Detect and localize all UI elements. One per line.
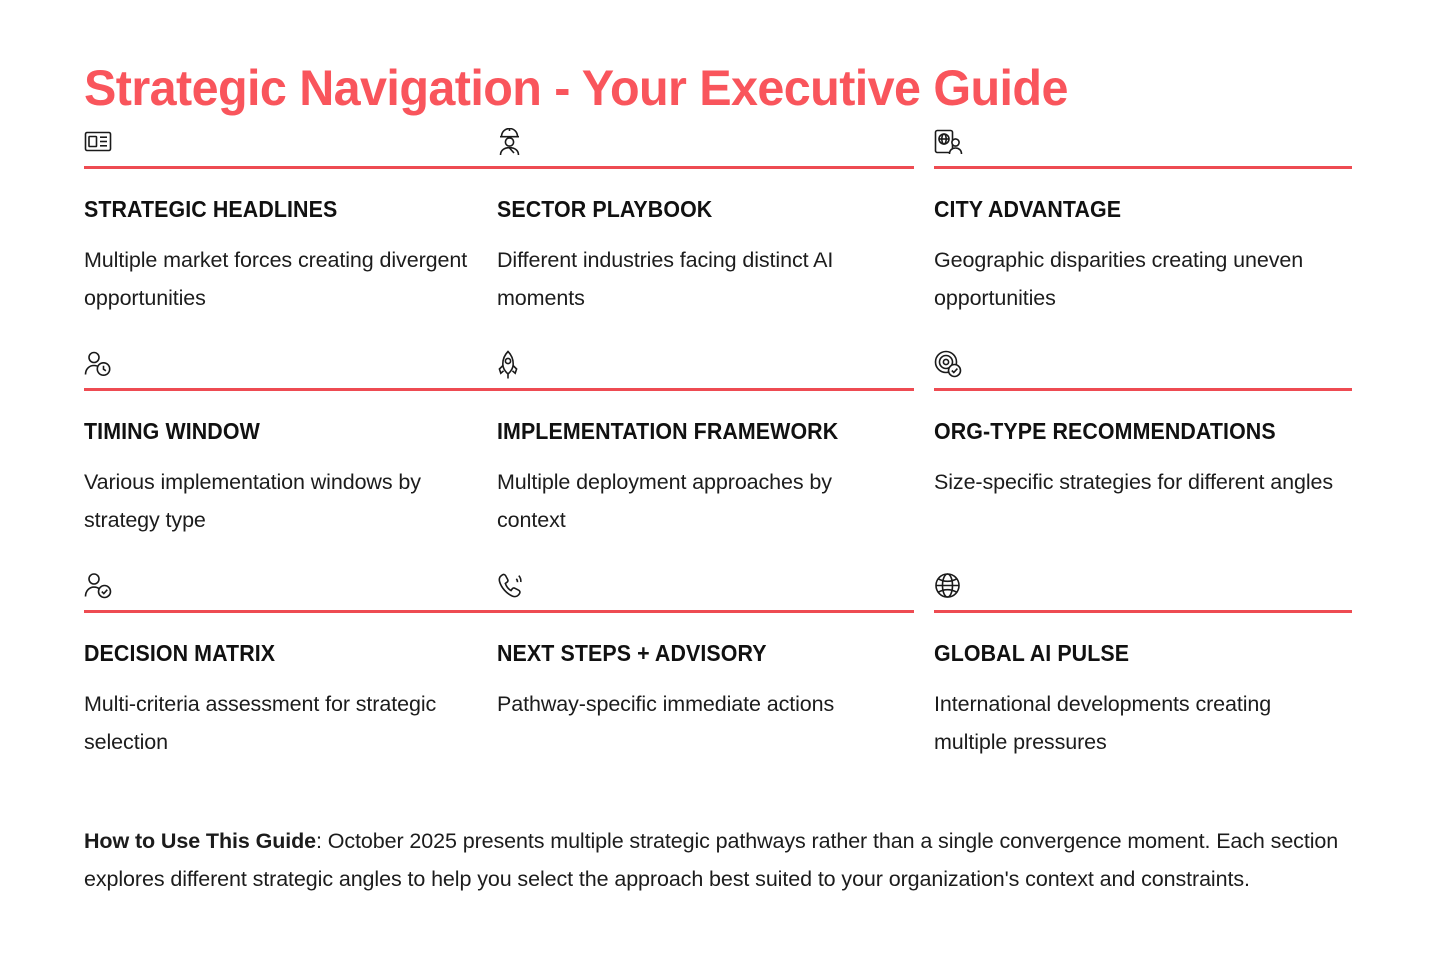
card-divider bbox=[84, 166, 497, 169]
card-divider bbox=[84, 610, 497, 613]
person-check-icon bbox=[84, 572, 473, 606]
card-divider bbox=[497, 388, 914, 391]
card-timing-window[interactable]: TIMING WINDOW Various implementation win… bbox=[84, 350, 497, 572]
card-heading: GLOBAL AI PULSE bbox=[934, 640, 1323, 667]
card-global-ai-pulse[interactable]: GLOBAL AI PULSE International developmen… bbox=[934, 572, 1376, 794]
card-implementation-framework[interactable]: IMPLEMENTATION FRAMEWORK Multiple deploy… bbox=[497, 350, 934, 572]
card-description: Size-specific strategies for different a… bbox=[934, 463, 1334, 501]
card-description: International developments creating mult… bbox=[934, 685, 1334, 761]
card-description: Multiple market forces creating divergen… bbox=[84, 241, 473, 317]
card-description: Pathway-specific immediate actions bbox=[497, 685, 897, 723]
card-divider bbox=[934, 388, 1352, 391]
card-sector-playbook[interactable]: SECTOR PLAYBOOK Different industries fac… bbox=[497, 128, 934, 350]
card-next-steps-advisory[interactable]: NEXT STEPS + ADVISORY Pathway-specific i… bbox=[497, 572, 934, 794]
target-check-icon bbox=[934, 350, 1352, 384]
card-divider bbox=[497, 166, 914, 169]
phone-ringing-icon bbox=[497, 572, 910, 606]
rocket-icon bbox=[497, 350, 910, 384]
card-divider bbox=[934, 610, 1352, 613]
card-heading: CITY ADVANTAGE bbox=[934, 196, 1323, 223]
how-to-use-footnote: How to Use This Guide: October 2025 pres… bbox=[84, 822, 1379, 898]
card-heading: NEXT STEPS + ADVISORY bbox=[497, 640, 881, 667]
card-heading: IMPLEMENTATION FRAMEWORK bbox=[497, 418, 881, 445]
card-description: Multi-criteria assessment for strategic … bbox=[84, 685, 473, 761]
executive-guide-page: Strategic Navigation - Your Executive Gu… bbox=[0, 0, 1456, 954]
card-org-type-recommendations[interactable]: ORG-TYPE RECOMMENDATIONS Size-specific s… bbox=[934, 350, 1376, 572]
card-heading: TIMING WINDOW bbox=[84, 418, 446, 445]
card-heading: ORG-TYPE RECOMMENDATIONS bbox=[934, 418, 1323, 445]
newspaper-icon bbox=[84, 128, 473, 162]
footnote-label: How to Use This Guide bbox=[84, 829, 316, 853]
globe-icon bbox=[934, 572, 1352, 606]
city-globe-person-icon bbox=[934, 128, 1352, 162]
card-strategic-headlines[interactable]: STRATEGIC HEADLINES Multiple market forc… bbox=[84, 128, 497, 350]
person-clock-icon bbox=[84, 350, 473, 384]
card-decision-matrix[interactable]: DECISION MATRIX Multi-criteria assessmen… bbox=[84, 572, 497, 794]
card-description: Geographic disparities creating uneven o… bbox=[934, 241, 1334, 317]
card-description: Different industries facing distinct AI … bbox=[497, 241, 897, 317]
card-description: Multiple deployment approaches by contex… bbox=[497, 463, 897, 539]
card-heading: SECTOR PLAYBOOK bbox=[497, 196, 881, 223]
card-divider bbox=[497, 610, 914, 613]
card-heading: STRATEGIC HEADLINES bbox=[84, 196, 446, 223]
card-heading: DECISION MATRIX bbox=[84, 640, 446, 667]
hard-hat-worker-icon bbox=[497, 128, 910, 162]
section-grid: STRATEGIC HEADLINES Multiple market forc… bbox=[84, 128, 1376, 794]
card-city-advantage[interactable]: CITY ADVANTAGE Geographic disparities cr… bbox=[934, 128, 1376, 350]
card-divider bbox=[934, 166, 1352, 169]
card-description: Various implementation windows by strate… bbox=[84, 463, 473, 539]
page-title: Strategic Navigation - Your Executive Gu… bbox=[84, 56, 1068, 120]
card-divider bbox=[84, 388, 497, 391]
